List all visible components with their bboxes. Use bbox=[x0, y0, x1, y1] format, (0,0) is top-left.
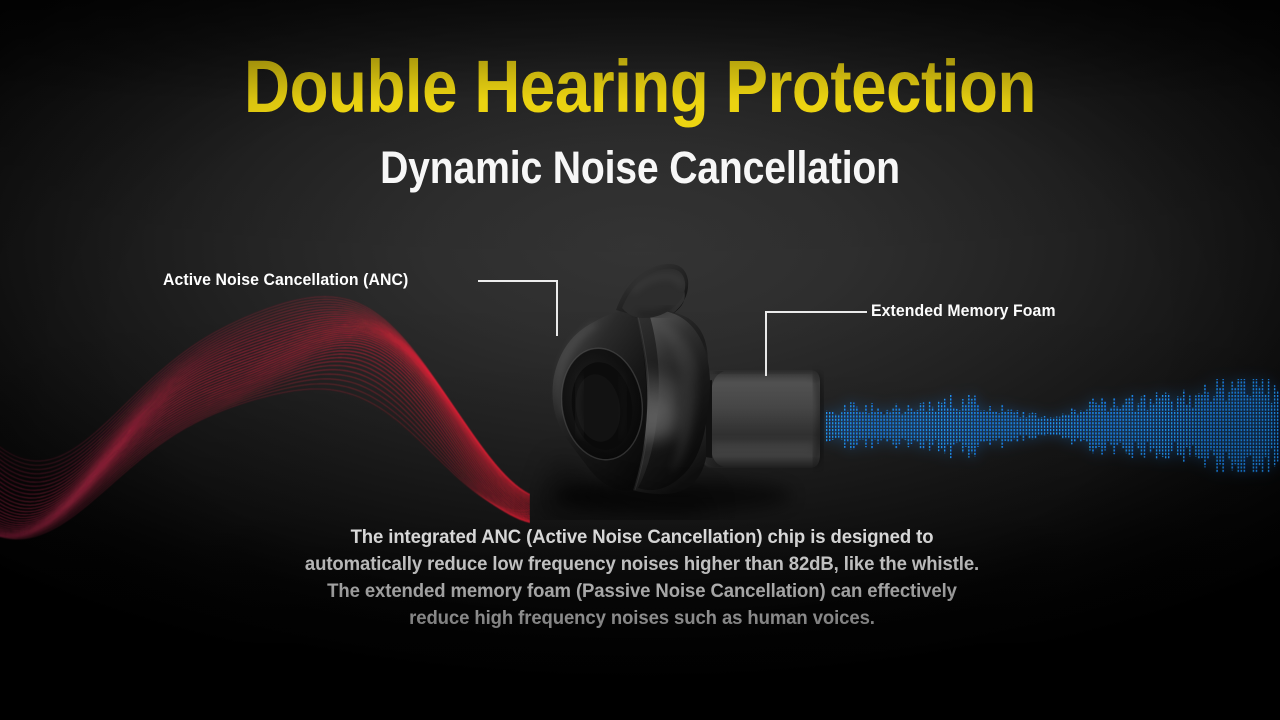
earbud-outer-face bbox=[553, 310, 650, 490]
description-paragraph: The integrated ANC (Active Noise Cancell… bbox=[303, 524, 981, 632]
callout-label-anc: Active Noise Cancellation (ANC) bbox=[163, 270, 408, 290]
callout-label-foam: Extended Memory Foam bbox=[871, 301, 1056, 321]
promo-banner: Double Hearing Protection Dynamic Noise … bbox=[0, 0, 1280, 720]
leader-line-foam-vertical bbox=[765, 311, 767, 376]
leader-line-anc-horizontal bbox=[478, 280, 558, 282]
page-subtitle: Dynamic Noise Cancellation bbox=[83, 143, 1197, 193]
leader-line-anc-vertical bbox=[556, 280, 558, 336]
high-frequency-audio-equalizer bbox=[826, 378, 1280, 474]
wireless-earbud-product bbox=[498, 258, 866, 520]
page-title: Double Hearing Protection bbox=[90, 48, 1191, 126]
earbud-ear-fin bbox=[616, 264, 688, 318]
memory-foam-tip bbox=[702, 370, 821, 468]
leader-line-foam-horizontal bbox=[765, 311, 867, 313]
